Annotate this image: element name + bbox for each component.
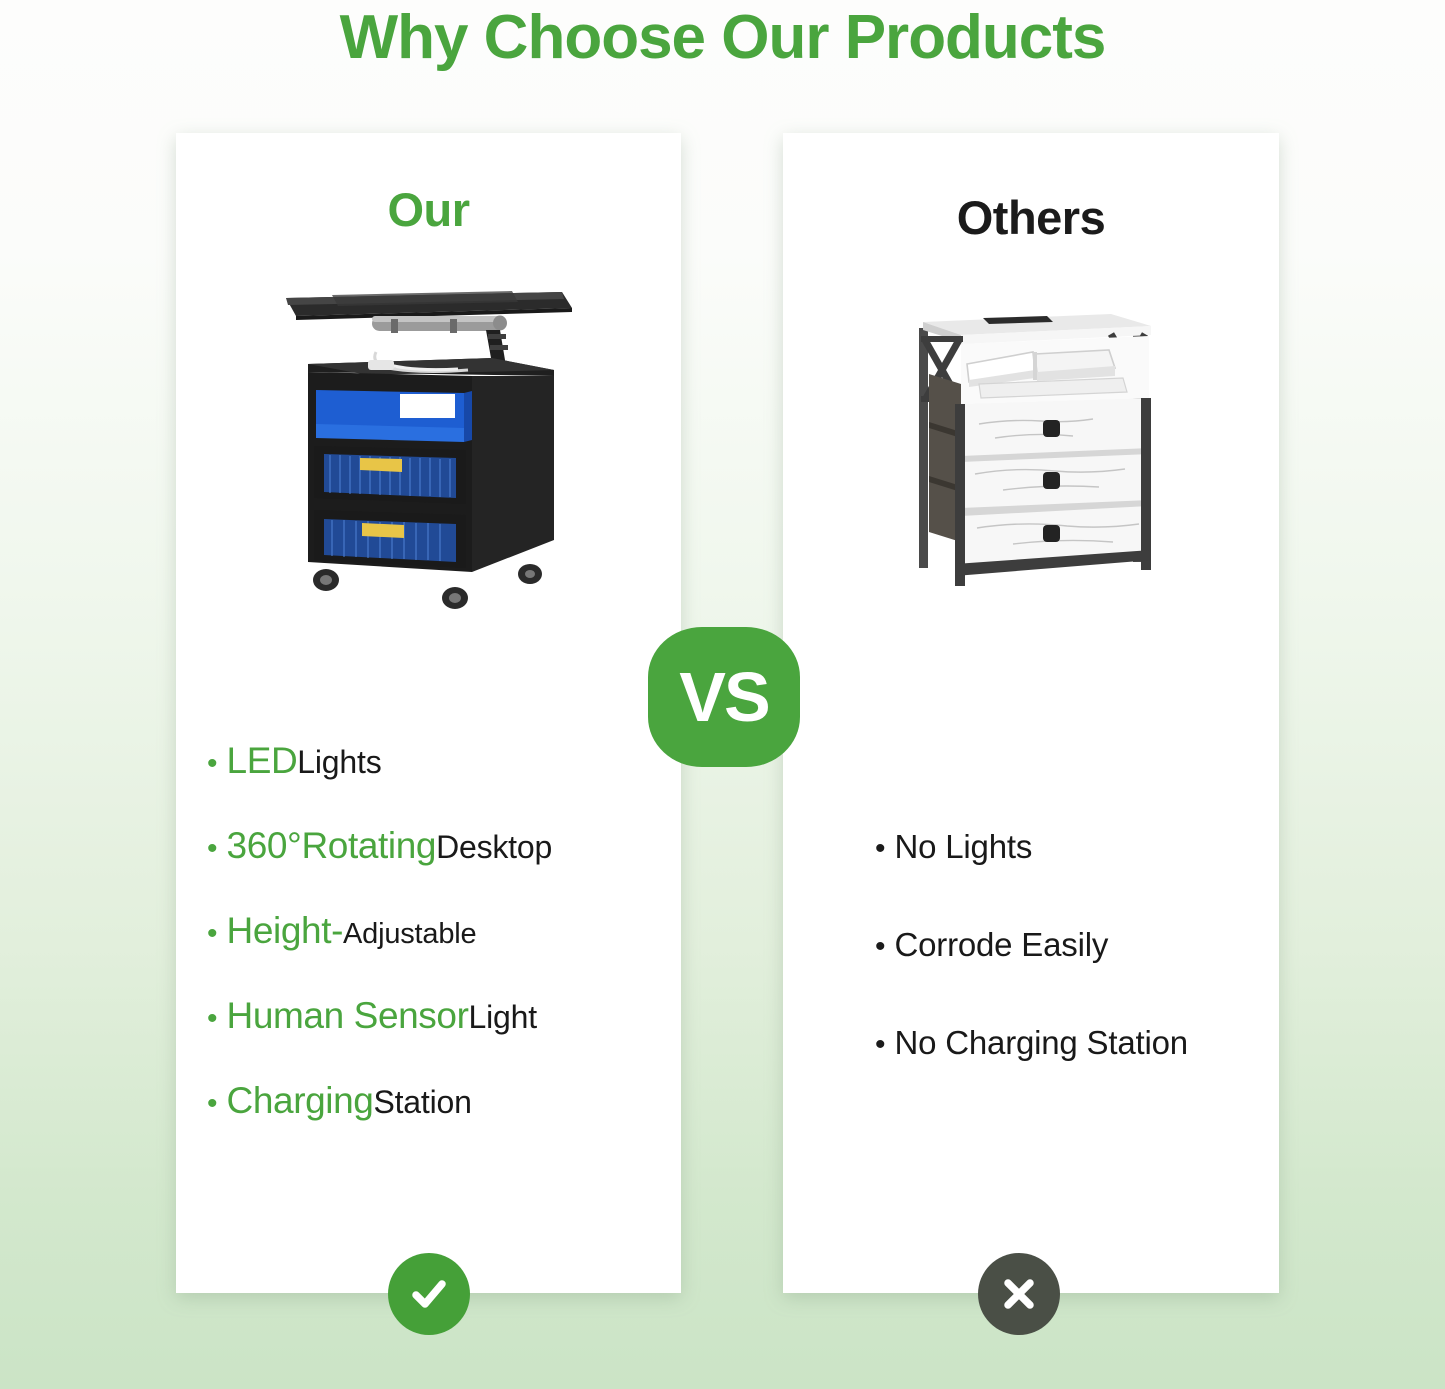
- nightstand-led-illustration: [272, 272, 592, 620]
- product-image-our: [272, 272, 592, 620]
- feature-item: • LED Lights: [207, 740, 677, 782]
- verdict-badge-others: [978, 1253, 1060, 1335]
- feature-list-others: • No Lights • Corrode Easily • No Chargi…: [875, 828, 1265, 1122]
- feature-highlight: Height-: [227, 910, 343, 952]
- feature-rest: Station: [373, 1084, 471, 1121]
- feature-text: No Lights: [895, 828, 1033, 866]
- feature-text: Corrode Easily: [895, 926, 1109, 964]
- bullet-icon: •: [875, 834, 886, 864]
- feature-rest: Light: [469, 999, 537, 1036]
- vs-badge: VS: [648, 627, 800, 767]
- product-image-others: [883, 292, 1159, 597]
- feature-highlight: LED: [227, 740, 298, 782]
- nightstand-rustic-illustration: [883, 292, 1159, 597]
- bullet-icon: •: [207, 834, 218, 864]
- verdict-badge-our: [388, 1253, 470, 1335]
- feature-text: No Charging Station: [895, 1024, 1188, 1062]
- drawer-knob: [1043, 525, 1060, 542]
- drawer-knob: [1043, 420, 1060, 437]
- check-icon: [406, 1271, 452, 1317]
- drawer-handle-gold: [360, 458, 402, 472]
- feature-rest: Adjustable: [343, 918, 476, 951]
- feature-item: • No Charging Station: [875, 1024, 1265, 1062]
- feature-highlight: Charging: [227, 1080, 374, 1122]
- drawer-knob: [1043, 472, 1060, 489]
- feature-highlight: Human Sensor: [227, 995, 469, 1037]
- feature-highlight: 360°Rotating: [227, 825, 437, 867]
- bullet-icon: •: [207, 1089, 218, 1119]
- feature-item: • Height- Adjustable: [207, 910, 677, 952]
- panel-heading-our: Our: [176, 182, 681, 237]
- bullet-icon: •: [207, 919, 218, 949]
- panel-heading-others: Others: [783, 190, 1279, 245]
- bullet-icon: •: [207, 1004, 218, 1034]
- feature-rest: Desktop: [436, 829, 552, 866]
- bullet-icon: •: [875, 1030, 886, 1060]
- feature-item: • Human Sensor Light: [207, 995, 677, 1037]
- bullet-icon: •: [207, 749, 218, 779]
- feature-list-our: • LED Lights • 360°Rotating Desktop • He…: [207, 740, 677, 1165]
- bullet-icon: •: [875, 932, 886, 962]
- page-title: Why Choose Our Products: [0, 2, 1445, 73]
- caster-wheel: [313, 564, 542, 609]
- feature-item: • Charging Station: [207, 1080, 677, 1122]
- feature-rest: Lights: [297, 744, 381, 781]
- feature-item: • Corrode Easily: [875, 926, 1265, 964]
- feature-item: • No Lights: [875, 828, 1265, 866]
- cross-icon: [998, 1273, 1040, 1315]
- feature-item: • 360°Rotating Desktop: [207, 825, 677, 867]
